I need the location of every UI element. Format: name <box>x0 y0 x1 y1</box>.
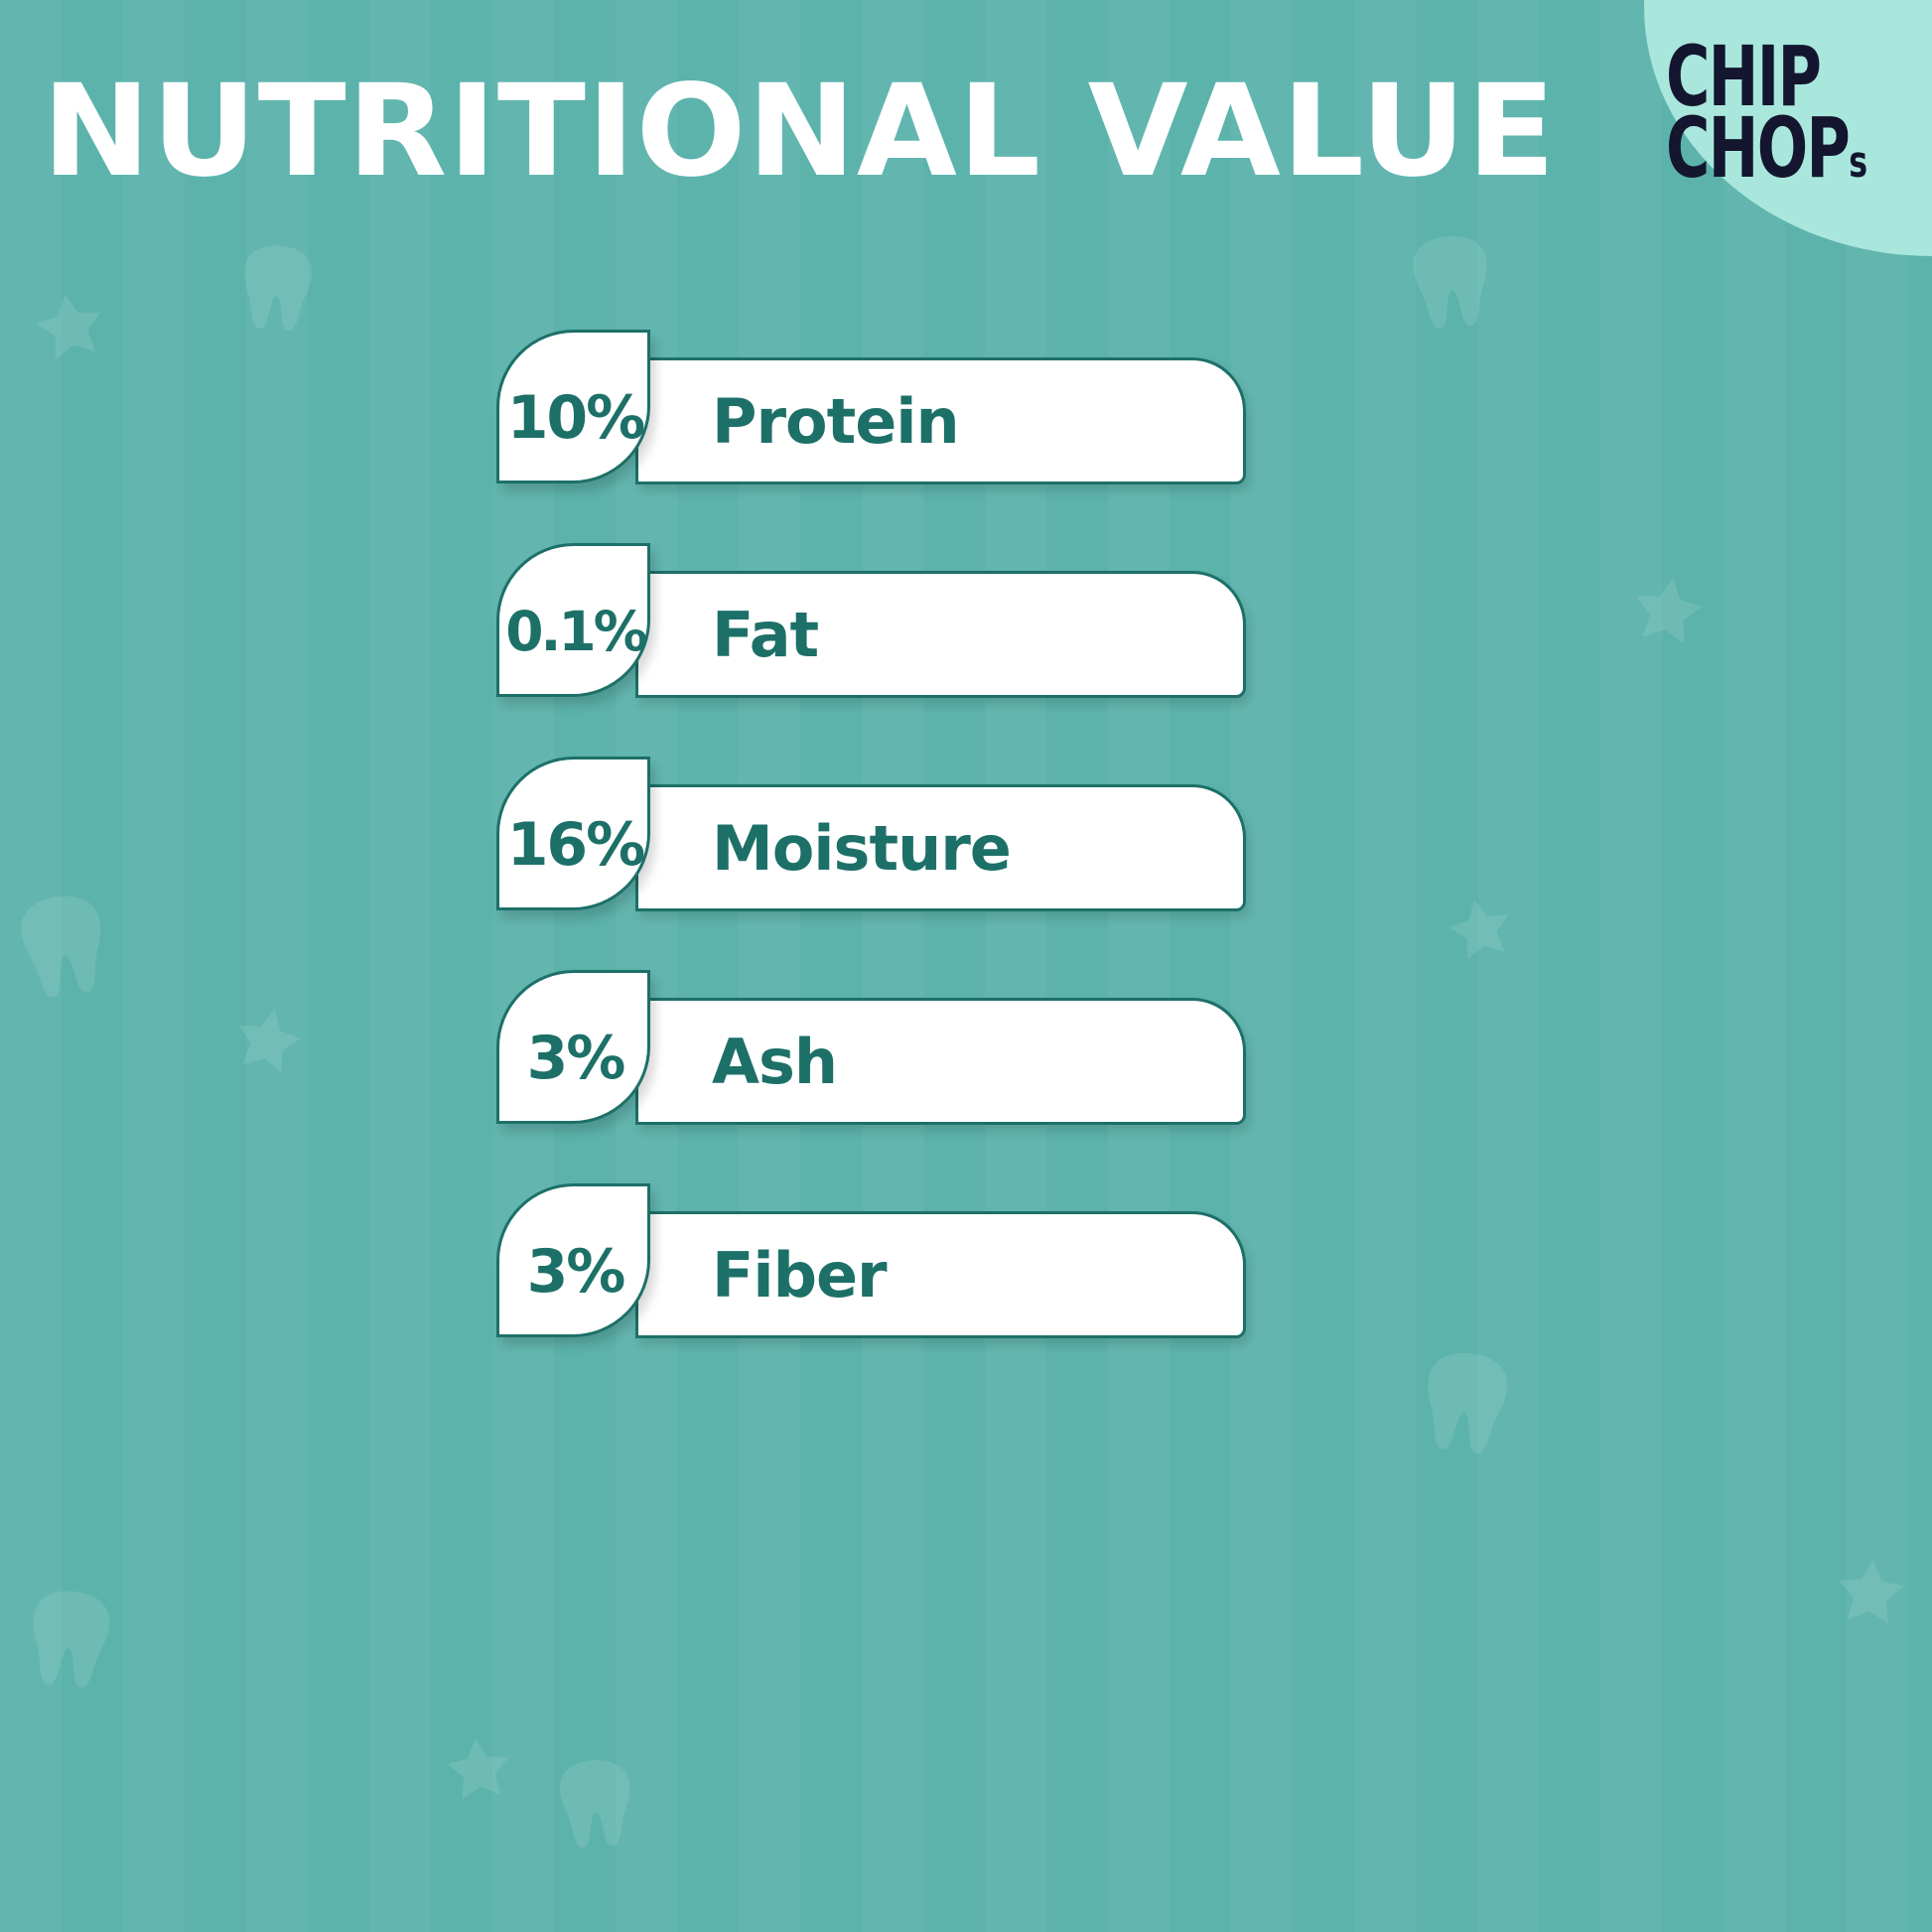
nutrient-name: Moisture <box>712 812 1011 885</box>
nutrient-value: 10% <box>503 361 644 453</box>
tooth-watermark <box>1414 1345 1517 1462</box>
star-watermark <box>1622 565 1714 656</box>
nutrient-label-card: Fat <box>635 571 1246 698</box>
nutrient-row-fiber: Fiber 3% <box>496 1183 1132 1397</box>
nutrient-row-ash: Ash 3% <box>496 970 1132 1183</box>
nutrient-value-badge: 10% <box>496 330 650 483</box>
nutrient-name: Ash <box>712 1026 837 1098</box>
nutrient-label-card: Fiber <box>635 1211 1246 1338</box>
chip-chops-logo: CHIP CHOPs <box>1666 18 1914 207</box>
page-title: NUTRITIONAL VALUE <box>0 58 1614 206</box>
nutrient-value: 3% <box>523 1215 624 1307</box>
tooth-watermark <box>21 1585 118 1697</box>
tooth-watermark <box>11 888 116 1007</box>
logo-line-chops: CHOPs <box>1666 112 1866 184</box>
nutrient-row-fat: Fat 0.1% <box>496 543 1132 757</box>
nutrient-list: Protein 10% Fat 0.1% Moisture 16% Ash 3%… <box>496 330 1132 1397</box>
logo-chop-text: CHOP <box>1666 99 1849 197</box>
tooth-watermark <box>235 240 319 337</box>
nutrient-value-badge: 16% <box>496 757 650 910</box>
star-watermark <box>438 1728 518 1809</box>
nutrient-value: 0.1% <box>501 578 645 663</box>
nutrient-value-badge: 3% <box>496 970 650 1124</box>
nutrient-name: Fat <box>712 599 818 671</box>
nutrient-value-badge: 3% <box>496 1183 650 1337</box>
nutrient-name: Protein <box>712 385 959 458</box>
tooth-watermark <box>554 1755 638 1855</box>
star-watermark <box>1829 1551 1913 1635</box>
nutrient-row-protein: Protein 10% <box>496 330 1132 543</box>
nutrient-label-card: Protein <box>635 357 1246 484</box>
nutrient-label-card: Ash <box>635 998 1246 1125</box>
star-watermark <box>26 282 115 371</box>
logo-chop-suffix: s <box>1849 137 1865 188</box>
tooth-watermark <box>1406 230 1497 337</box>
nutrient-row-moisture: Moisture 16% <box>496 757 1132 970</box>
nutrient-value-badge: 0.1% <box>496 543 650 697</box>
nutrient-name: Fiber <box>712 1239 887 1311</box>
nutrient-value: 3% <box>523 1002 624 1093</box>
nutrient-value: 16% <box>503 788 644 880</box>
nutrient-label-card: Moisture <box>635 784 1246 911</box>
star-watermark <box>223 996 313 1085</box>
star-watermark <box>1438 887 1522 971</box>
